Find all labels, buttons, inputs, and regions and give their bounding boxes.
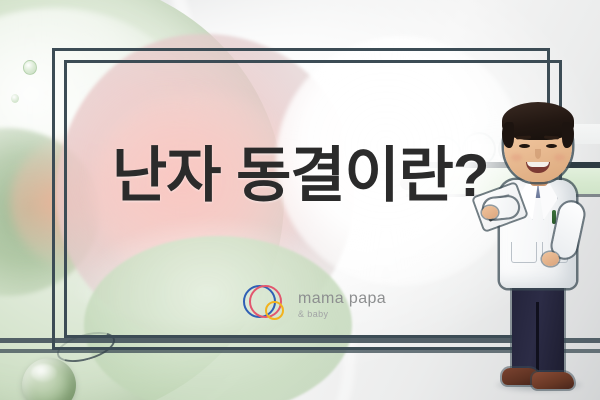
bubble-icon-small-1: [23, 60, 37, 75]
doctor-figure: [478, 106, 598, 400]
banner-canvas: 난자 동결이란? mama papa & baby: [0, 0, 600, 400]
page-title: 난자 동결이란?: [112, 146, 492, 206]
logo-name: mama papa: [298, 291, 386, 308]
pen-icon-green: [552, 210, 556, 224]
doctor-teeth: [527, 162, 549, 167]
bubble-icon-small-2: [11, 94, 19, 103]
doctor-coat-pocket-left: [511, 242, 537, 263]
logo-tagline: & baby: [298, 310, 386, 319]
doctor-leg-separation: [536, 302, 539, 376]
doctor-hair-side-left: [502, 122, 514, 148]
doctor-cheek-left: [511, 154, 522, 161]
doctor-shoe-right: [532, 372, 574, 389]
brand-logo[interactable]: mama papa & baby: [243, 283, 386, 327]
logo-rings-icon: [243, 283, 289, 327]
doctor-nose: [535, 149, 541, 159]
doctor-hand-right: [542, 252, 559, 266]
doctor-cheek-right: [554, 154, 565, 161]
doctor-eye-right: [546, 144, 557, 148]
logo-text-block: mama papa & baby: [298, 291, 386, 319]
doctor-hair-side-right: [562, 122, 574, 148]
doctor-hand-left: [482, 206, 498, 219]
green-sphere-highlight: [31, 364, 57, 382]
logo-ring-yellow: [265, 301, 284, 320]
doctor-eye-left: [519, 144, 530, 148]
